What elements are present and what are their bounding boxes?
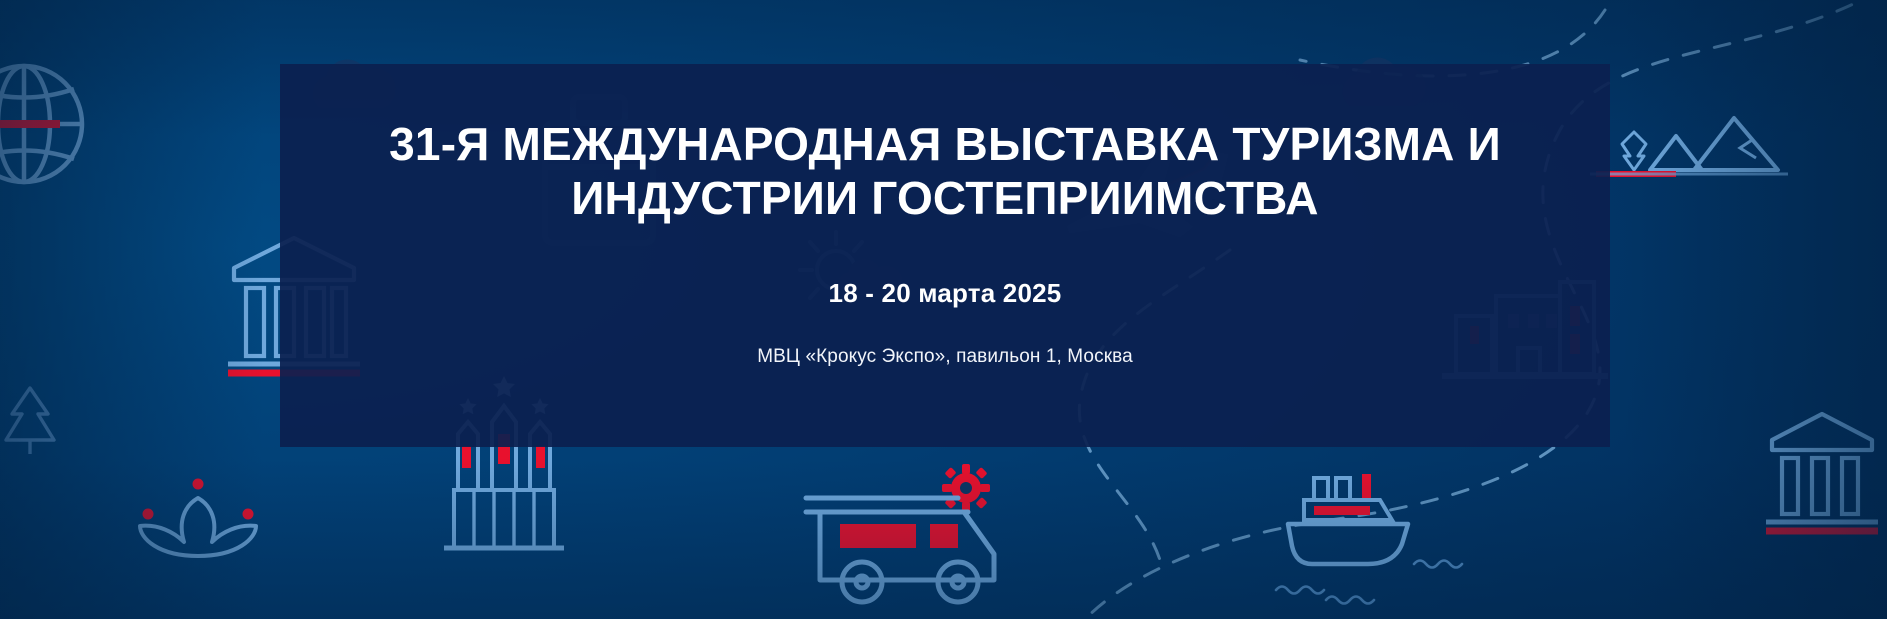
event-venue: МВЦ «Крокус Экспо», павильон 1, Москва: [757, 346, 1133, 368]
event-date: 18 - 20 марта 2025: [829, 278, 1062, 309]
page-title-line-2: ИНДУСТРИИ ГОСТЕПРИИМСТВА: [389, 172, 1501, 226]
page-title: 31-Я МЕЖДУНАРОДНАЯ ВЫСТАВКА ТУРИЗМА И ИН…: [389, 118, 1501, 226]
page-title-line-1: 31-Я МЕЖДУНАРОДНАЯ ВЫСТАВКА ТУРИЗМА И: [389, 118, 1501, 172]
banner-text-block: 31-Я МЕЖДУНАРОДНАЯ ВЫСТАВКА ТУРИЗМА И ИН…: [280, 64, 1610, 447]
hero-banner: 31-Я МЕЖДУНАРОДНАЯ ВЫСТАВКА ТУРИЗМА И ИН…: [0, 0, 1887, 619]
